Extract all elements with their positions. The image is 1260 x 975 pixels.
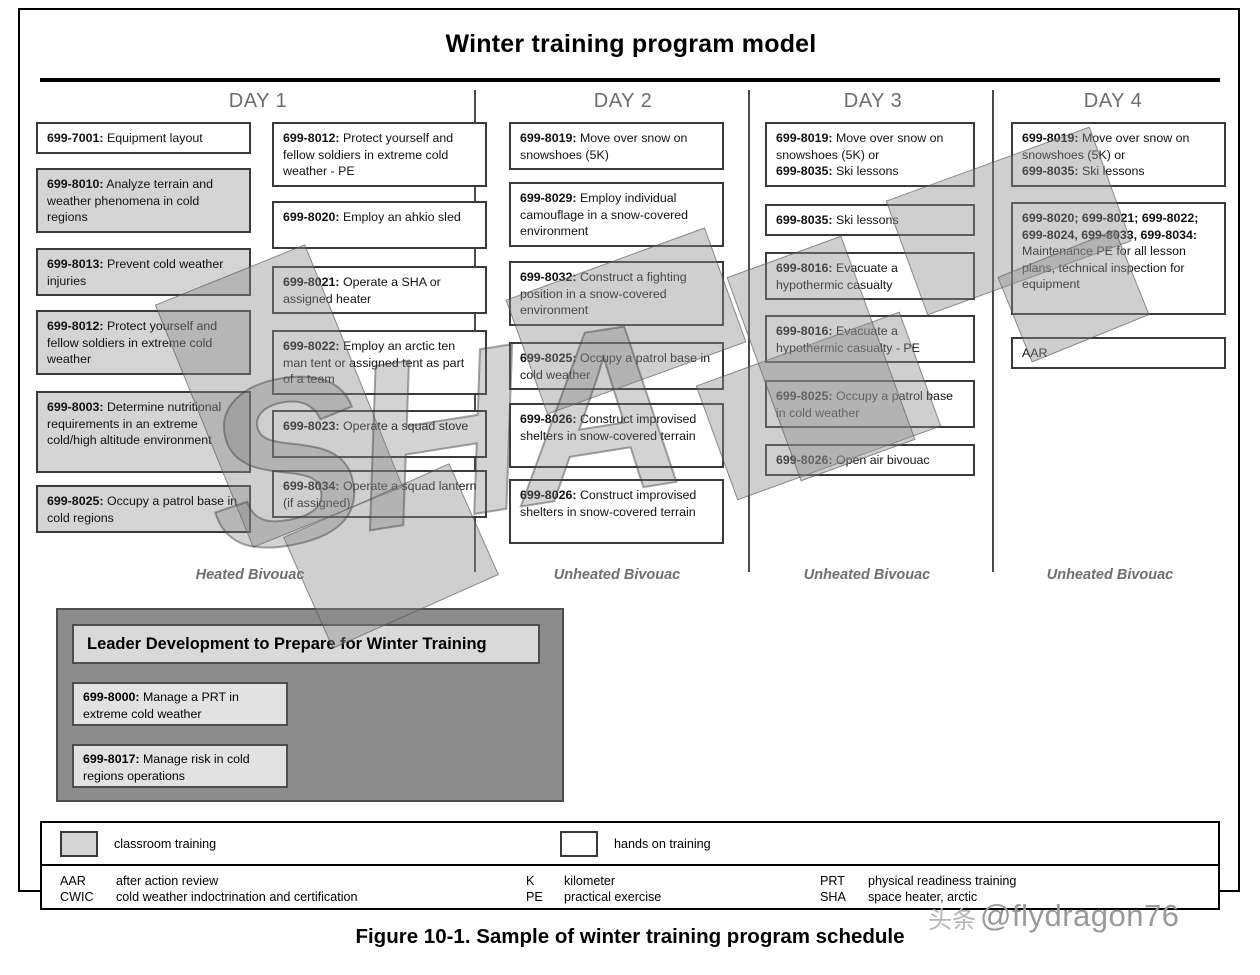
task-box[interactable]: 699-8025: Occupy a patrol base in cold r…: [36, 485, 251, 533]
task-code: 699-8026:: [776, 453, 833, 467]
task-code: 699-8013:: [47, 257, 104, 271]
task-code: 699-8026:: [520, 412, 577, 426]
task-box[interactable]: 699-8019: Move over snow on snowshoes (5…: [509, 122, 724, 170]
abbr-value: physical readiness training: [868, 874, 1016, 888]
bivouac-label-1: Heated Bivouac: [100, 567, 400, 583]
task-text: Equipment layout: [104, 131, 203, 145]
task-code: 699-8026:: [520, 488, 577, 502]
legend-row: classroom training hands on training: [40, 821, 1220, 866]
task-code-2: 699-8035:: [776, 164, 833, 178]
task-box[interactable]: 699-8019: Move over snow on snowshoes (5…: [765, 122, 975, 187]
task-code: 699-8019:: [520, 131, 577, 145]
abbr-value: after action review: [116, 874, 218, 888]
task-code: 699-7001:: [47, 131, 104, 145]
leader-task-box[interactable]: 699-8017: Manage risk in cold regions op…: [72, 744, 288, 788]
task-box[interactable]: 699-8020: Employ an ahkio sled: [272, 201, 487, 249]
task-code: 699-8019:: [776, 131, 833, 145]
task-box[interactable]: 699-8012: Protect yourself and fellow so…: [36, 310, 251, 375]
task-box[interactable]: 699-8016: Evacuate a hypothermic casualt…: [765, 315, 975, 363]
task-text: Operate a squad stove: [340, 419, 469, 433]
task-box[interactable]: 699-8003: Determine nutritional requirem…: [36, 391, 251, 473]
abbr-key: K: [526, 874, 534, 888]
task-box[interactable]: 699-8035: Ski lessons: [765, 204, 975, 236]
task-code: 699-8035:: [776, 213, 833, 227]
task-box[interactable]: 699-7001: Equipment layout: [36, 122, 251, 154]
task-code: 699-8017:: [83, 752, 140, 766]
column-divider-2: [748, 90, 750, 572]
task-code: 699-8012:: [47, 319, 104, 333]
task-code: 699-8022:: [283, 339, 340, 353]
abbreviations-row: AAR after action review CWIC cold weathe…: [40, 866, 1220, 910]
abbr-key: SHA: [820, 890, 846, 904]
task-box[interactable]: 699-8020; 699-8021; 699-8022; 699-8024, …: [1011, 202, 1226, 315]
abbr-key: AAR: [60, 874, 86, 888]
task-code: 699-8003:: [47, 400, 104, 414]
task-code: 699-8016:: [776, 261, 833, 275]
task-code: 699-8020:: [283, 210, 340, 224]
task-box[interactable]: 699-8010: Analyze terrain and weather ph…: [36, 168, 251, 233]
task-box[interactable]: 699-8019: Move over snow on snowshoes (5…: [1011, 122, 1226, 187]
bivouac-label-4: Unheated Bivouac: [995, 567, 1225, 583]
task-box[interactable]: 699-8029: Employ individual camouflage i…: [509, 182, 724, 247]
day-header-4: DAY 4: [998, 90, 1228, 113]
abbr-value: space heater, arctic: [868, 890, 977, 904]
page-title: Winter training program model: [20, 30, 1242, 59]
leader-development-panel: Leader Development to Prepare for Winter…: [56, 608, 564, 802]
task-code: 699-8023:: [283, 419, 340, 433]
task-code: 699-8021:: [283, 275, 340, 289]
task-text: AAR: [1022, 346, 1047, 360]
task-code: 699-8012:: [283, 131, 340, 145]
task-code: 699-8025:: [776, 389, 833, 403]
task-text-2: Ski lessons: [1079, 164, 1145, 178]
task-code: 699-8019:: [1022, 131, 1079, 145]
task-text: Employ an ahkio sled: [340, 210, 461, 224]
task-code: 699-8032:: [520, 270, 577, 284]
task-box[interactable]: 699-8023: Operate a squad stove: [272, 410, 487, 458]
task-box[interactable]: 699-8026: Construct improvised shelters …: [509, 403, 724, 468]
day-header-3: DAY 3: [753, 90, 993, 113]
task-code: 699-8029:: [520, 191, 577, 205]
task-text: Ski lessons: [833, 213, 899, 227]
task-box[interactable]: 699-8022: Employ an arctic ten man tent …: [272, 330, 487, 395]
task-text: Open air bivouac: [833, 453, 930, 467]
task-box[interactable]: 699-8032: Construct a fighting position …: [509, 261, 724, 326]
task-box[interactable]: 699-8021: Operate a SHA or assigned heat…: [272, 266, 487, 314]
task-text: Maintenance PE for all lesson plans, tec…: [1022, 244, 1186, 291]
legend-label-classroom: classroom training: [114, 837, 216, 851]
bivouac-label-3: Unheated Bivouac: [747, 567, 987, 583]
task-box[interactable]: 699-8013: Prevent cold weather injuries: [36, 248, 251, 296]
figure-caption: Figure 10-1. Sample of winter training p…: [0, 925, 1260, 949]
day-header-2: DAY 2: [498, 90, 748, 113]
abbr-value: cold weather indoctrination and certific…: [116, 890, 358, 904]
title-divider: [40, 78, 1220, 82]
task-code: 699-8000:: [83, 690, 140, 704]
day-header-1: DAY 1: [28, 90, 488, 113]
task-code-2: 699-8035:: [1022, 164, 1079, 178]
task-code: 699-8016:: [776, 324, 833, 338]
legend-swatch-handson: [560, 831, 598, 857]
task-code: 699-8025:: [47, 494, 104, 508]
task-code: 699-8034:: [283, 479, 340, 493]
task-box[interactable]: AAR: [1011, 337, 1226, 369]
task-code: 699-8025:: [520, 351, 577, 365]
leader-task-box[interactable]: 699-8000: Manage a PRT in extreme cold w…: [72, 682, 288, 726]
task-code: 699-8020; 699-8021; 699-8022; 699-8024, …: [1022, 211, 1198, 242]
legend-swatch-classroom: [60, 831, 98, 857]
task-box[interactable]: 699-8026: Open air bivouac: [765, 444, 975, 476]
task-box[interactable]: 699-8025: Occupy a patrol base in cold w…: [509, 342, 724, 390]
task-box[interactable]: 699-8025: Occupy a patrol base in cold w…: [765, 380, 975, 428]
leader-development-title: Leader Development to Prepare for Winter…: [72, 624, 540, 664]
figure-frame: Winter training program model DAY 1 DAY …: [18, 8, 1240, 892]
task-box[interactable]: 699-8012: Protect yourself and fellow so…: [272, 122, 487, 187]
abbr-value: kilometer: [564, 874, 615, 888]
abbr-key: PE: [526, 890, 543, 904]
task-text-2: Ski lessons: [833, 164, 899, 178]
task-box[interactable]: 699-8034: Operate a squad lantern (if as…: [272, 470, 487, 518]
column-divider-3: [992, 90, 994, 572]
legend-label-handson: hands on training: [614, 837, 711, 851]
task-box[interactable]: 699-8026: Construct improvised shelters …: [509, 479, 724, 544]
abbr-value: practical exercise: [564, 890, 661, 904]
task-box[interactable]: 699-8016: Evacuate a hypothermic casualt…: [765, 252, 975, 300]
bivouac-label-2: Unheated Bivouac: [492, 567, 742, 583]
abbr-key: PRT: [820, 874, 845, 888]
abbr-key: CWIC: [60, 890, 94, 904]
task-code: 699-8010:: [47, 177, 104, 191]
